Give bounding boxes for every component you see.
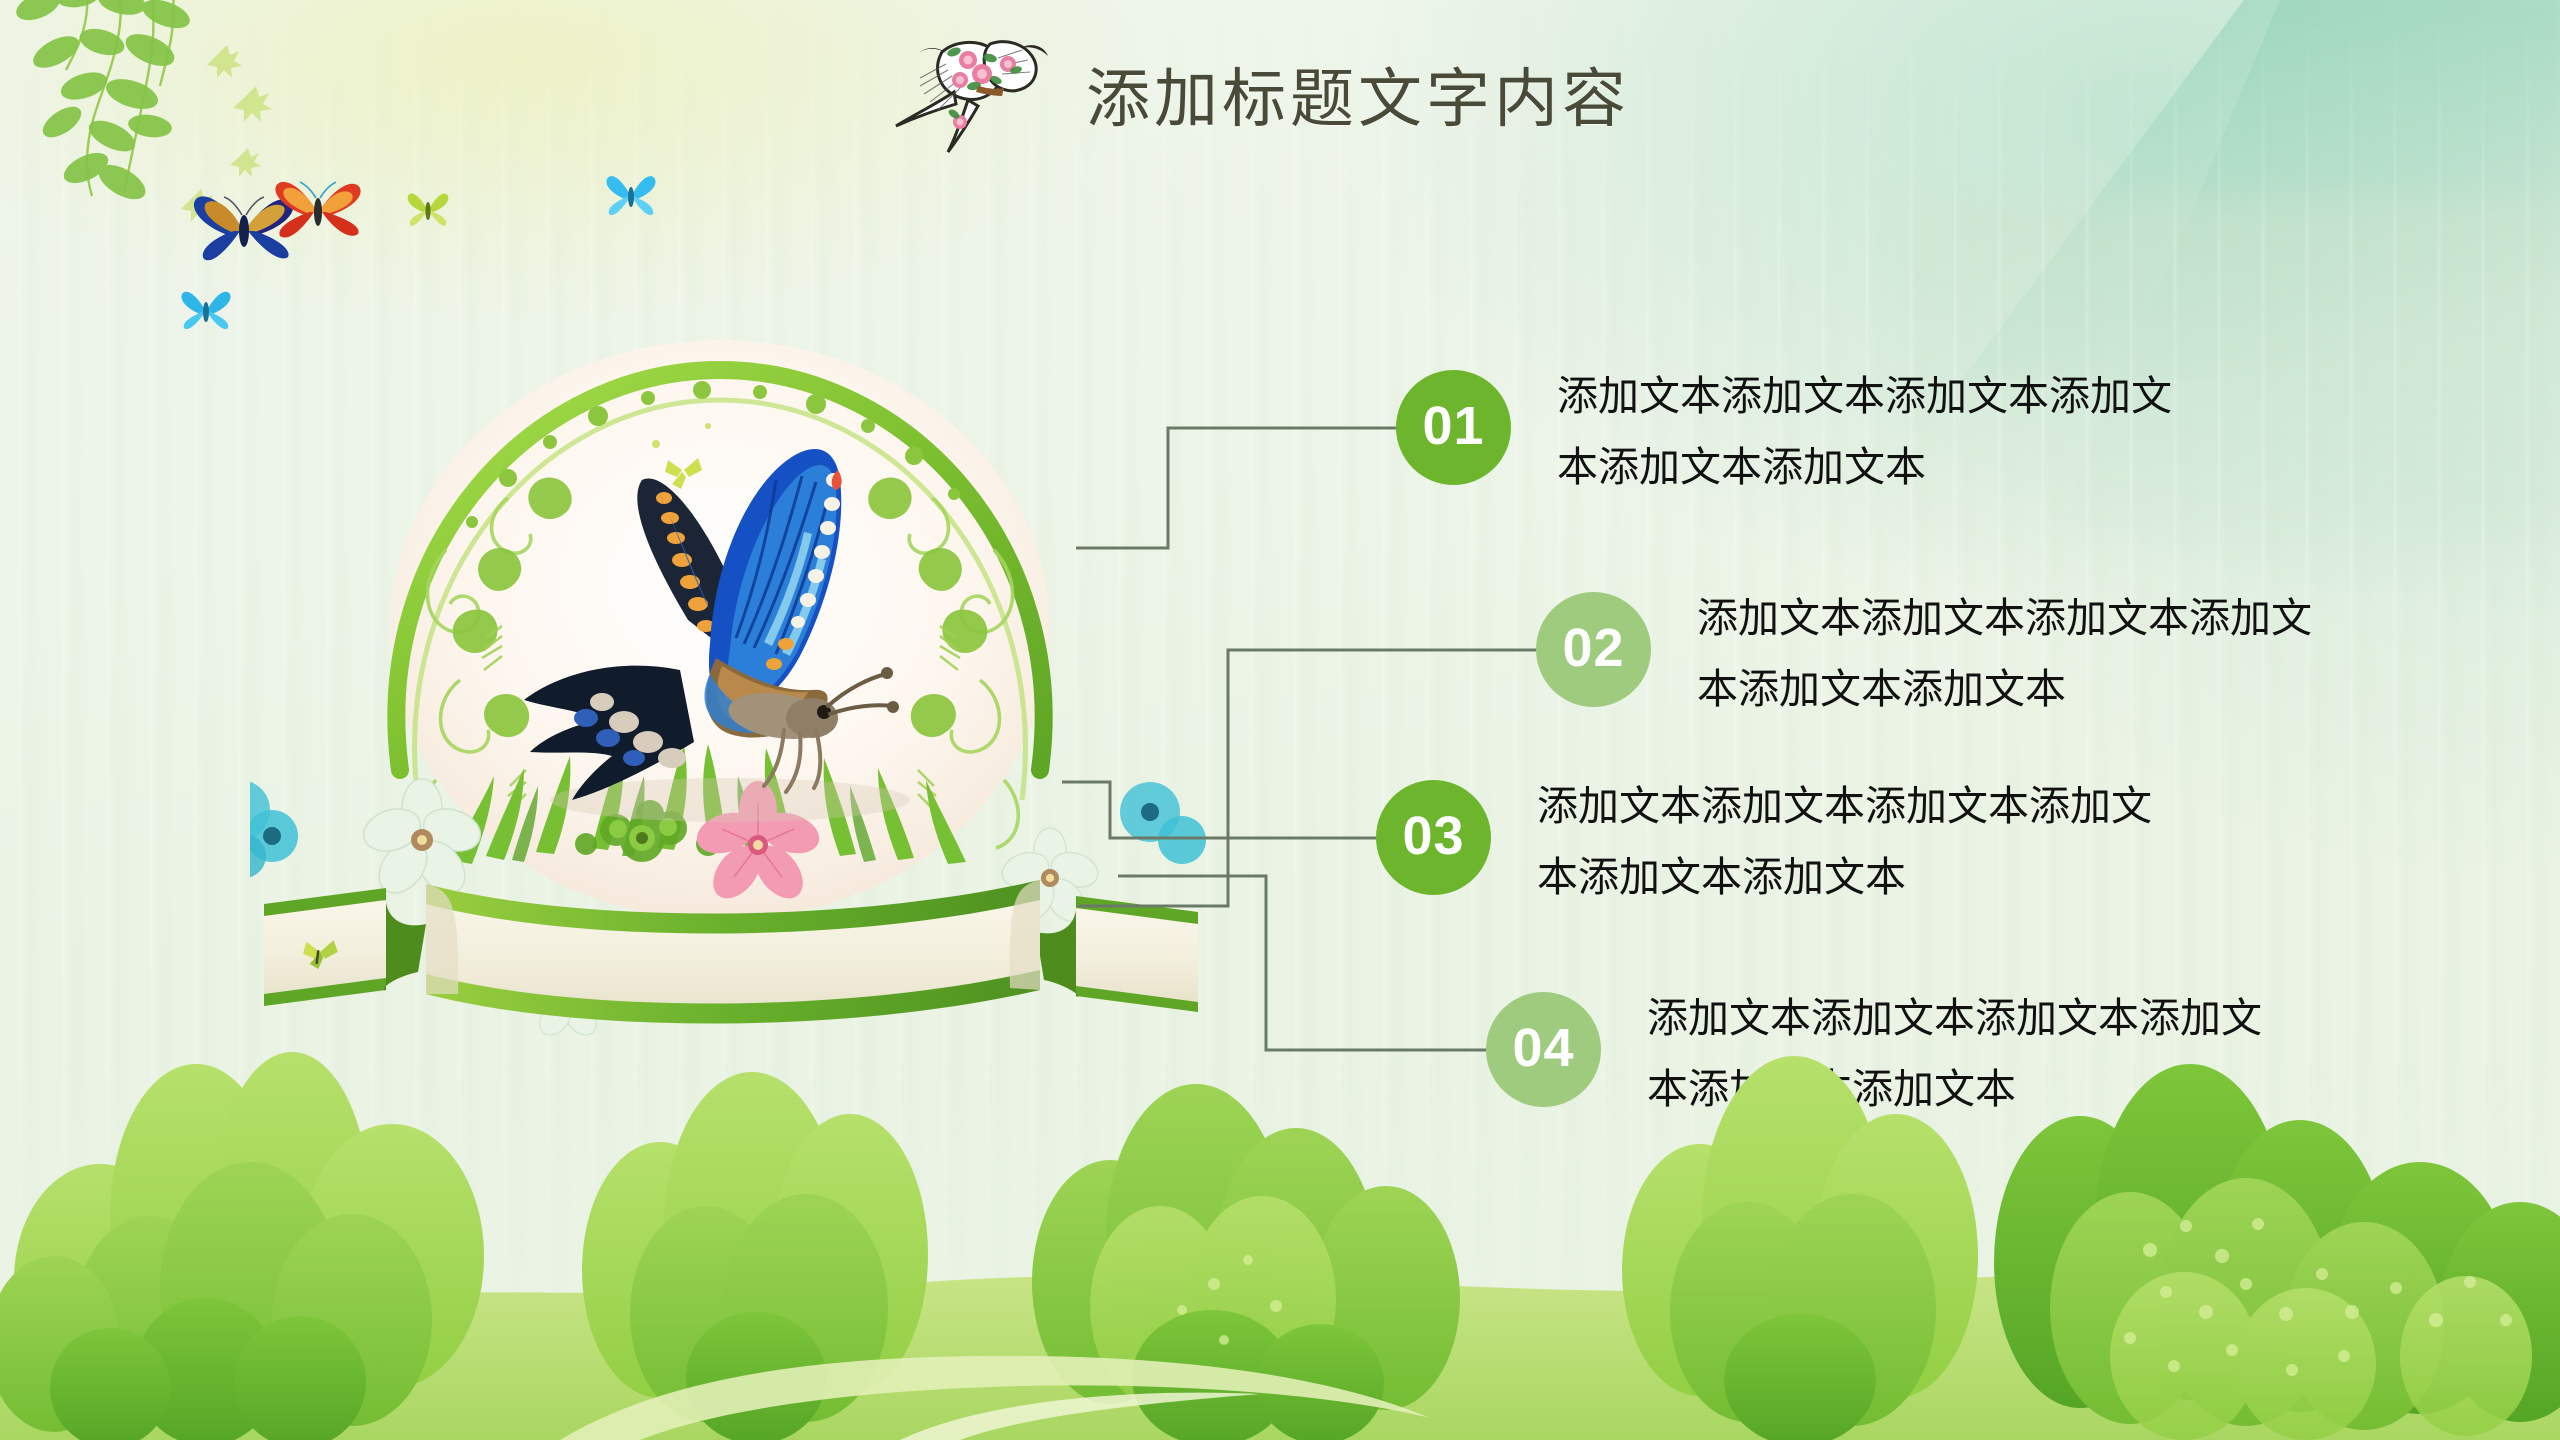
bullet-item-03[interactable]: 03 添加文本添加文本添加文本添加文 本添加文本添加文本: [1376, 780, 2152, 898]
butterfly-cyan-small-icon: [178, 286, 234, 336]
bullet-item-02[interactable]: 02 添加文本添加文本添加文本添加文 本添加文本添加文本: [1536, 592, 2312, 710]
badge-number-01[interactable]: 01: [1396, 370, 1511, 485]
watercolor-mountain-shape: [1790, 0, 2560, 380]
bullet-line: 本添加文本添加文本: [1557, 447, 2172, 488]
cartoon-bushes-illustration: [0, 1020, 2560, 1440]
slide-header: 添加标题文字内容: [890, 34, 1630, 154]
swallow-bird-icon: [890, 34, 1060, 154]
butterfly-green-small-icon: [404, 188, 452, 232]
bullet-line: 添加文本添加文本添加文本添加文: [1697, 598, 2312, 639]
slide-canvas: 添加标题文字内容: [0, 0, 2560, 1440]
bullet-line: 添加文本添加文本添加文本添加文: [1537, 786, 2152, 827]
bullet-line: 添加文本添加文本添加文本添加文: [1557, 376, 2172, 417]
page-title: 添加标题文字内容: [1086, 48, 1630, 140]
butterfly-cyan-small-icon-2: [602, 170, 660, 222]
badge-number-02[interactable]: 02: [1536, 592, 1651, 707]
bullet-line: 本添加文本添加文本: [1697, 669, 2312, 710]
bullet-text-03: 添加文本添加文本添加文本添加文 本添加文本添加文本: [1537, 780, 2152, 898]
bullet-item-01[interactable]: 01 添加文本添加文本添加文本添加文 本添加文本添加文本: [1396, 370, 2172, 488]
badge-number-03[interactable]: 03: [1376, 780, 1491, 895]
floral-wreath-illustration: [250, 300, 1210, 1110]
bullet-text-02: 添加文本添加文本添加文本添加文 本添加文本添加文本: [1697, 592, 2312, 710]
bullet-text-01: 添加文本添加文本添加文本添加文 本添加文本添加文本: [1557, 370, 2172, 488]
butterfly-orange-red-icon: [272, 172, 364, 252]
bullet-line: 本添加文本添加文本: [1537, 857, 2152, 898]
